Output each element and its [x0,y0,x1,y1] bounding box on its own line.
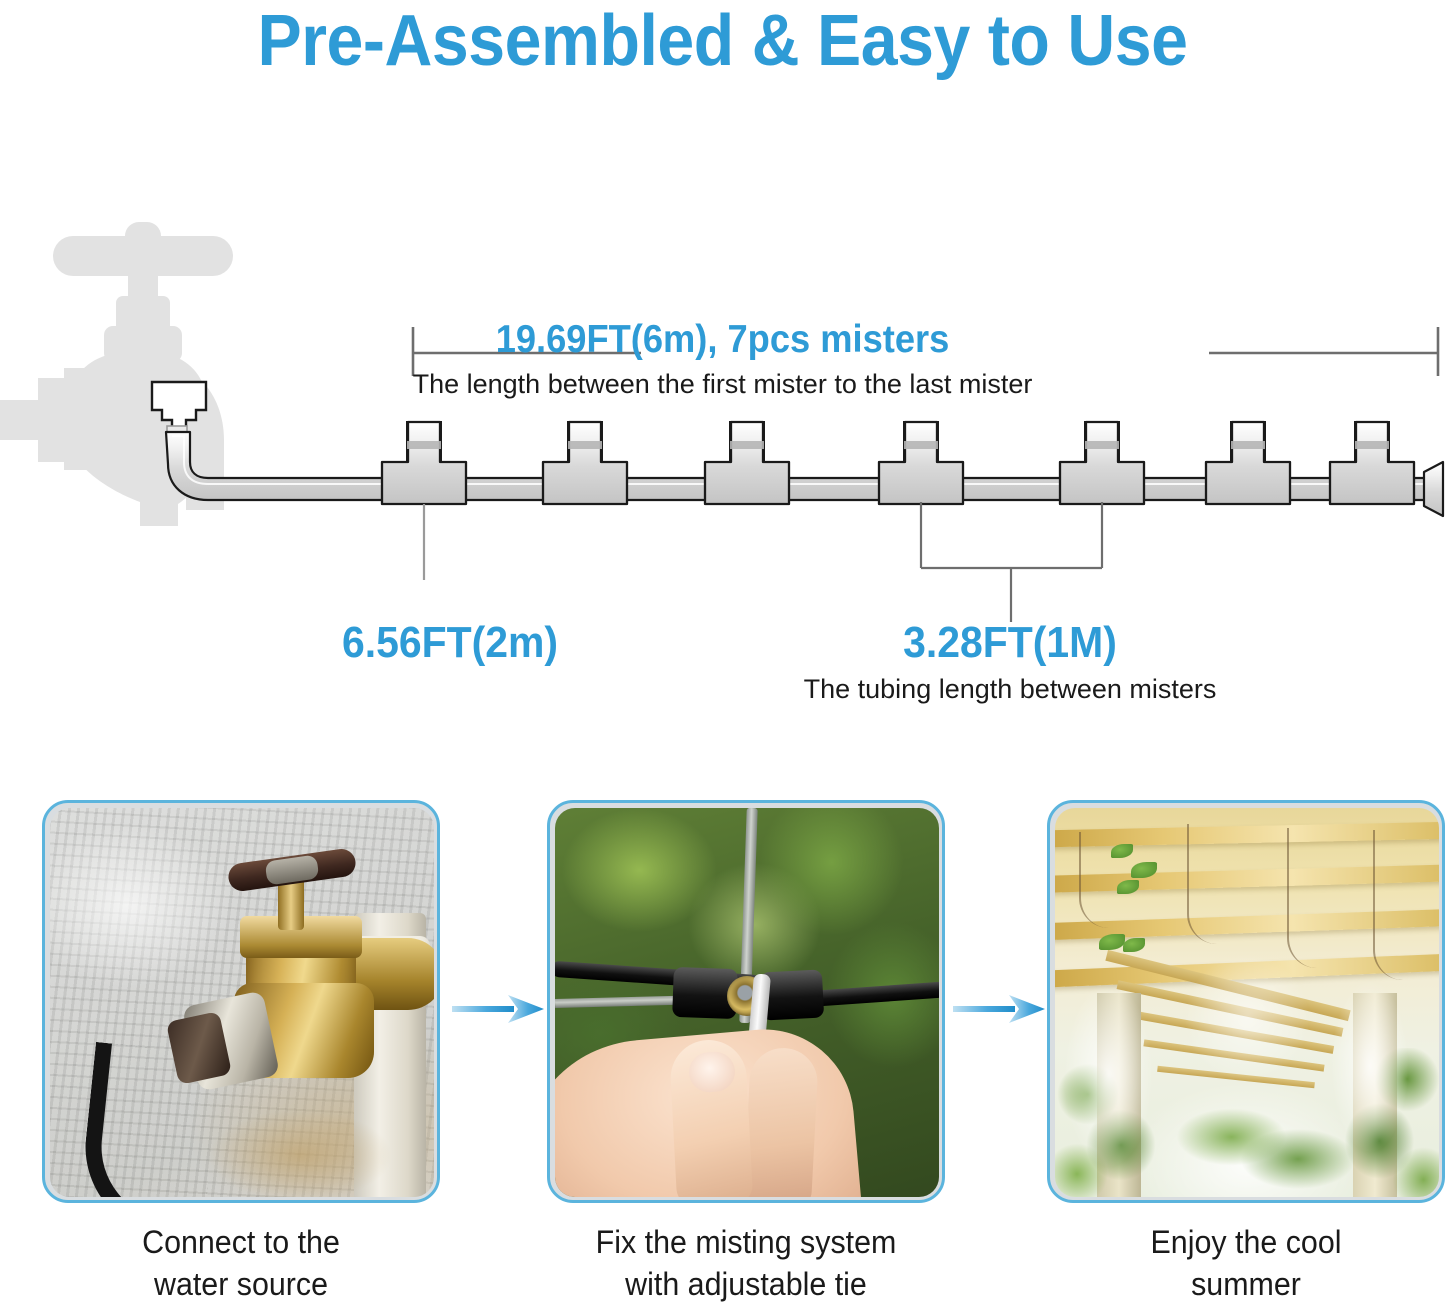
step-3-caption-line-1: Enjoy the cool [1057,1221,1435,1263]
tee-mister [879,422,963,504]
step-2-caption-line-1: Fix the misting system [557,1221,935,1263]
step-3-caption: Enjoy the cool summer [1057,1221,1435,1305]
page-title: Pre-Assembled & Easy to Use [58,2,1387,80]
lead-length-label: 6.56FT(2m) [190,618,711,668]
tee-mister [1206,422,1290,504]
step-1-caption-line-1: Connect to the [52,1221,430,1263]
step-arrow-1-icon [452,989,544,1029]
photo-connect-faucet [42,800,440,1203]
misting-system-diagram: 19.69FT(6m), 7pcs misters The length bet… [0,110,1445,740]
infographic-page: Pre-Assembled & Easy to Use [0,0,1445,1309]
photo-fix-with-tie [547,800,945,1203]
tee-mister [1330,422,1414,504]
pergola-mist-photo-content [1055,808,1439,1197]
mister-spacing-label: 3.28FT(1M) [778,618,1243,668]
tee-mister [382,422,466,504]
step-2-caption-line-2: with adjustable tie [557,1263,935,1305]
mister-spacing-description: The tubing length between misters [755,673,1265,705]
faucet-photo-content [50,808,434,1197]
step-1: Connect to the water source [42,800,440,1305]
step-2-caption: Fix the misting system with adjustable t… [557,1221,935,1305]
step-1-caption: Connect to the water source [52,1221,430,1305]
tee-mister [705,422,789,504]
tee-mister [543,422,627,504]
misting-tie-photo-content [555,808,939,1197]
span-dimension-label: 19.69FT(6m), 7pcs misters [51,318,1395,362]
step-3-caption-line-2: summer [1057,1263,1435,1305]
step-arrow-2-icon [953,989,1045,1029]
photo-enjoy-summer [1047,800,1445,1203]
span-dimension-description: The length between the first mister to t… [0,368,1445,400]
tee-mister [1060,422,1144,504]
spacing-bracket [921,502,1102,622]
tube-end-cap [1424,462,1443,516]
step-3: Enjoy the cool summer [1047,800,1445,1305]
step-1-caption-line-2: water source [52,1263,430,1305]
steps-row: Connect to the water source [0,800,1445,1309]
step-2: Fix the misting system with adjustable t… [547,800,945,1305]
